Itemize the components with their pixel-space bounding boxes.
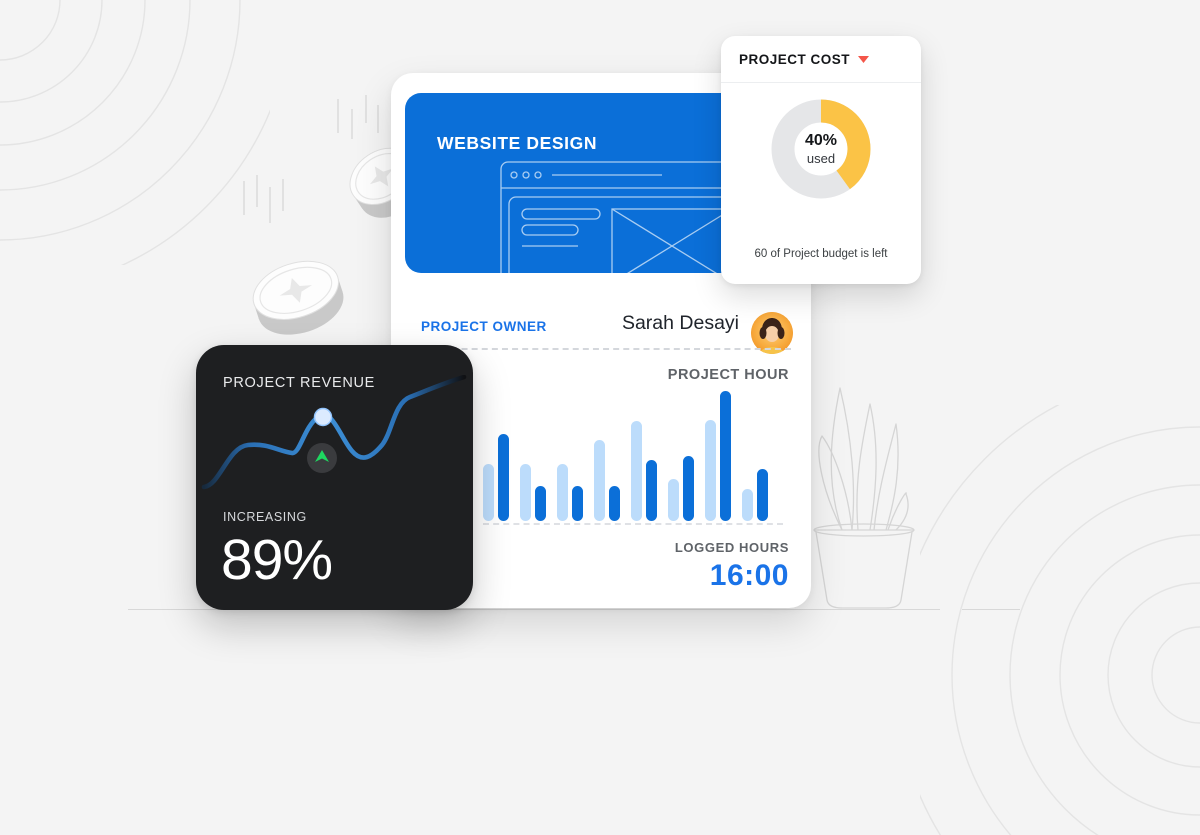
- bar-chart-baseline: [483, 523, 783, 525]
- coin-icon-lower: [243, 250, 353, 344]
- project-revenue-value: 89%: [221, 527, 332, 593]
- project-revenue-line-chart: [196, 375, 473, 515]
- bar-11: [668, 479, 679, 521]
- bar-9: [631, 421, 642, 521]
- donut-percent: 40%: [805, 132, 837, 150]
- chevron-down-icon[interactable]: [857, 55, 870, 64]
- bar-8: [609, 486, 620, 521]
- bar-16: [757, 469, 768, 521]
- project-hour-bar-chart: [483, 391, 783, 521]
- project-owner-label: PROJECT OWNER: [421, 319, 547, 334]
- motion-lines-lower: [238, 173, 296, 231]
- bar-13: [705, 420, 716, 521]
- project-revenue-card: PROJECT REVENUE INCREASING 89%: [196, 345, 473, 610]
- bar-5: [557, 464, 568, 521]
- page-title: WEBSITE DESIGN: [437, 133, 597, 154]
- section-divider: [411, 348, 791, 350]
- project-owner-name: Sarah Desayi: [622, 312, 739, 335]
- bar-14: [720, 391, 731, 521]
- project-cost-footer: 60 of Project budget is left: [721, 248, 921, 260]
- donut-center-label: 40% used: [771, 99, 871, 199]
- bar-6: [572, 486, 583, 521]
- bar-2: [498, 434, 509, 521]
- bar-7: [594, 440, 605, 521]
- donut-percent-sublabel: used: [807, 151, 835, 166]
- logged-hours-value: 16:00: [710, 559, 789, 593]
- bar-1: [483, 464, 494, 521]
- project-hour-title: PROJECT HOUR: [668, 367, 789, 383]
- canvas: WEBSITE DESIGN: [0, 0, 1200, 675]
- decor-arcs-top-left: [0, 0, 270, 265]
- bar-12: [683, 456, 694, 521]
- project-cost-header[interactable]: PROJECT COST: [721, 36, 921, 83]
- project-cost-card: PROJECT COST 40% used 60 of Project budg…: [721, 36, 921, 284]
- bar-4: [535, 486, 546, 521]
- bar-15: [742, 489, 753, 522]
- plant-illustration: [800, 372, 990, 612]
- bar-3: [520, 464, 531, 521]
- project-revenue-trend-label: INCREASING: [223, 510, 307, 524]
- bar-10: [646, 460, 657, 521]
- logged-hours-label: LOGGED HOURS: [675, 540, 789, 555]
- project-cost-title: PROJECT COST: [739, 52, 850, 67]
